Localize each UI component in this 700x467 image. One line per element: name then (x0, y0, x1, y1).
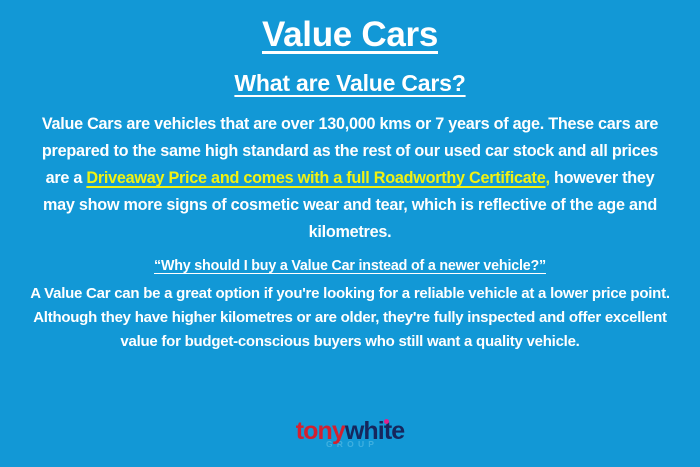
logo-text-white: white (345, 417, 404, 445)
logo-wordmark: tonywhite (296, 418, 405, 444)
logo-dot-icon (384, 419, 389, 424)
question-heading: “Why should I buy a Value Car instead of… (154, 258, 546, 275)
page-title: Value Cars (262, 16, 438, 55)
tony-white-group-logo: tonywhite GROUP (0, 418, 700, 449)
driveaway-price-highlight: Driveaway Price and comes with a full Ro… (86, 169, 545, 187)
paragraph-why-buy-value-car: A Value Car can be a great option if you… (20, 282, 680, 354)
paragraph-value-cars-definition: Value Cars are vehicles that are over 13… (30, 111, 670, 246)
value-cars-poster: Value Cars What are Value Cars? Value Ca… (0, 0, 700, 467)
section-subtitle: What are Value Cars? (234, 70, 465, 96)
logo-text-tony: tony (296, 417, 345, 445)
